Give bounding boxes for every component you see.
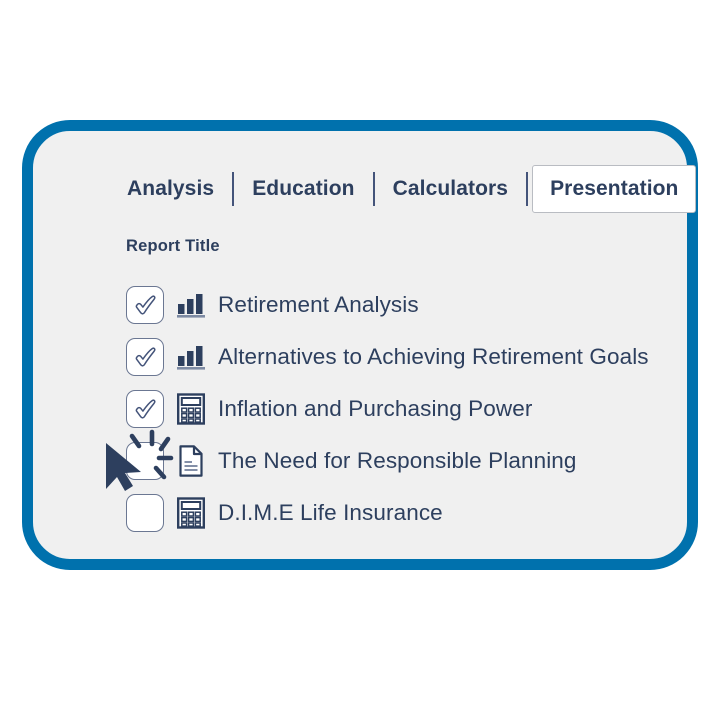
report-list: Retirement Analysis Alter [126,279,686,539]
document-icon [174,444,208,478]
tab-education[interactable]: Education [238,165,368,213]
bar-chart-icon [174,288,208,322]
list-item[interactable]: Retirement Analysis [126,279,686,331]
report-checkbox-unchecked[interactable] [126,442,164,480]
checkmark-icon [130,394,160,424]
list-item[interactable]: Alternatives to Achieving Retirement Goa… [126,331,686,383]
checkmark-icon [130,342,160,372]
report-checkbox-checked[interactable] [126,286,164,324]
tab-bar: Analysis Education Calculators Presentat… [113,165,696,213]
report-label: D.I.M.E Life Insurance [218,500,443,526]
report-label: Alternatives to Achieving Retirement Goa… [218,344,649,370]
screenshot-canvas: Analysis Education Calculators Presentat… [0,0,720,720]
tab-separator [232,172,234,206]
report-label: Retirement Analysis [218,292,419,318]
list-item[interactable]: Inflation and Purchasing Power [126,383,686,435]
checkmark-icon [130,290,160,320]
tab-calculators[interactable]: Calculators [379,165,522,213]
bar-chart-icon [174,340,208,374]
calculator-icon [174,392,208,426]
presentation-card: Analysis Education Calculators Presentat… [22,120,698,570]
report-label: Inflation and Purchasing Power [218,396,532,422]
list-item[interactable]: The Need for Responsible Planning [126,435,686,487]
report-checkbox-checked[interactable] [126,338,164,376]
tab-separator [373,172,375,206]
list-item[interactable]: D.I.M.E Life Insurance [126,487,686,539]
calculator-icon [174,496,208,530]
tab-analysis[interactable]: Analysis [113,165,228,213]
report-title-heading: Report Title [126,237,220,256]
report-checkbox-unchecked[interactable] [126,494,164,532]
tab-presentation[interactable]: Presentation [532,165,696,213]
report-checkbox-checked[interactable] [126,390,164,428]
report-label: The Need for Responsible Planning [218,448,577,474]
tab-separator [526,172,528,206]
